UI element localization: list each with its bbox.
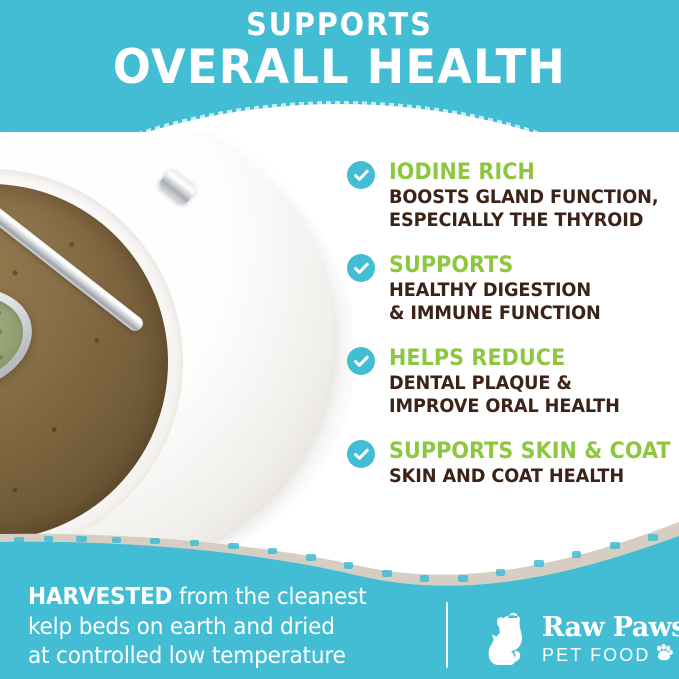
kibble-bowl-photo (0, 92, 352, 560)
paw-print-icon (655, 644, 673, 666)
check-circle-icon (347, 161, 375, 189)
check-circle-icon (347, 347, 375, 375)
benefit-title: SUPPORTS (389, 253, 662, 278)
title-line-2: OVERALL HEALTH (17, 43, 662, 93)
benefit-desc-line: & IMMUNE FUNCTION (389, 302, 659, 325)
benefits-list: IODINE RICH BOOSTS GLAND FUNCTION, ESPEC… (345, 160, 679, 488)
footer-tagline: HARVESTED from the cleanest kelp beds on… (28, 583, 428, 672)
logo-subtitle: PET FOOD (542, 645, 650, 666)
check-circle-icon (347, 254, 375, 282)
benefit-description: SKIN AND COAT HEALTH (389, 465, 659, 488)
check-circle-icon (347, 440, 375, 468)
benefit-description: BOOSTS GLAND FUNCTION, ESPECIALLY THE TH… (389, 186, 659, 232)
footer-line-3: at controlled low temperature (28, 642, 404, 672)
product-infographic: SUPPORTS OVERALL HEALTH IODINE RICH BOOS… (0, 0, 679, 679)
footer-line-1: HARVESTED from the cleanest (28, 583, 404, 613)
footer-line-2: kelp beds on earth and dried (28, 613, 404, 643)
logo-subtitle-row: PET FOOD (542, 644, 662, 666)
benefit-description: DENTAL PLAQUE & IMPROVE ORAL HEALTH (389, 372, 659, 418)
footer-line-1-rest: from the cleanest (172, 584, 366, 610)
benefit-title: IODINE RICH (389, 160, 662, 185)
list-item: IODINE RICH BOOSTS GLAND FUNCTION, ESPEC… (345, 160, 679, 232)
title-line-1: SUPPORTS (27, 8, 652, 42)
benefit-title: HELPS REDUCE (389, 346, 662, 371)
logo-name: Raw Paws® (542, 608, 662, 643)
list-item: SUPPORTS SKIN & COAT SKIN AND COAT HEALT… (345, 439, 679, 488)
benefit-desc-line: BOOSTS GLAND FUNCTION, (389, 186, 659, 209)
benefit-desc-line: HEALTHY DIGESTION (389, 279, 659, 302)
dog-cat-silhouette-icon (486, 610, 542, 668)
footer-harvested-word: HARVESTED (28, 584, 172, 610)
logo-name-text: Raw Paws (542, 612, 679, 643)
benefit-desc-line: ESPECIALLY THE THYROID (389, 209, 659, 232)
footer-divider (446, 602, 448, 668)
benefit-desc-line: SKIN AND COAT HEALTH (389, 465, 659, 488)
list-item: HELPS REDUCE DENTAL PLAQUE & IMPROVE ORA… (345, 346, 679, 418)
benefit-desc-line: DENTAL PLAQUE & (389, 372, 659, 395)
benefit-title: SUPPORTS SKIN & COAT (389, 439, 662, 464)
list-item: SUPPORTS HEALTHY DIGESTION & IMMUNE FUNC… (345, 253, 679, 325)
header-arc-texture (0, 101, 679, 132)
page-title: SUPPORTS OVERALL HEALTH (0, 8, 679, 93)
benefit-description: HEALTHY DIGESTION & IMMUNE FUNCTION (389, 279, 659, 325)
benefit-desc-line: IMPROVE ORAL HEALTH (389, 395, 659, 418)
brand-logo[interactable]: Raw Paws® PET FOOD (486, 608, 662, 670)
logo-wordmark: Raw Paws® PET FOOD (542, 608, 662, 666)
